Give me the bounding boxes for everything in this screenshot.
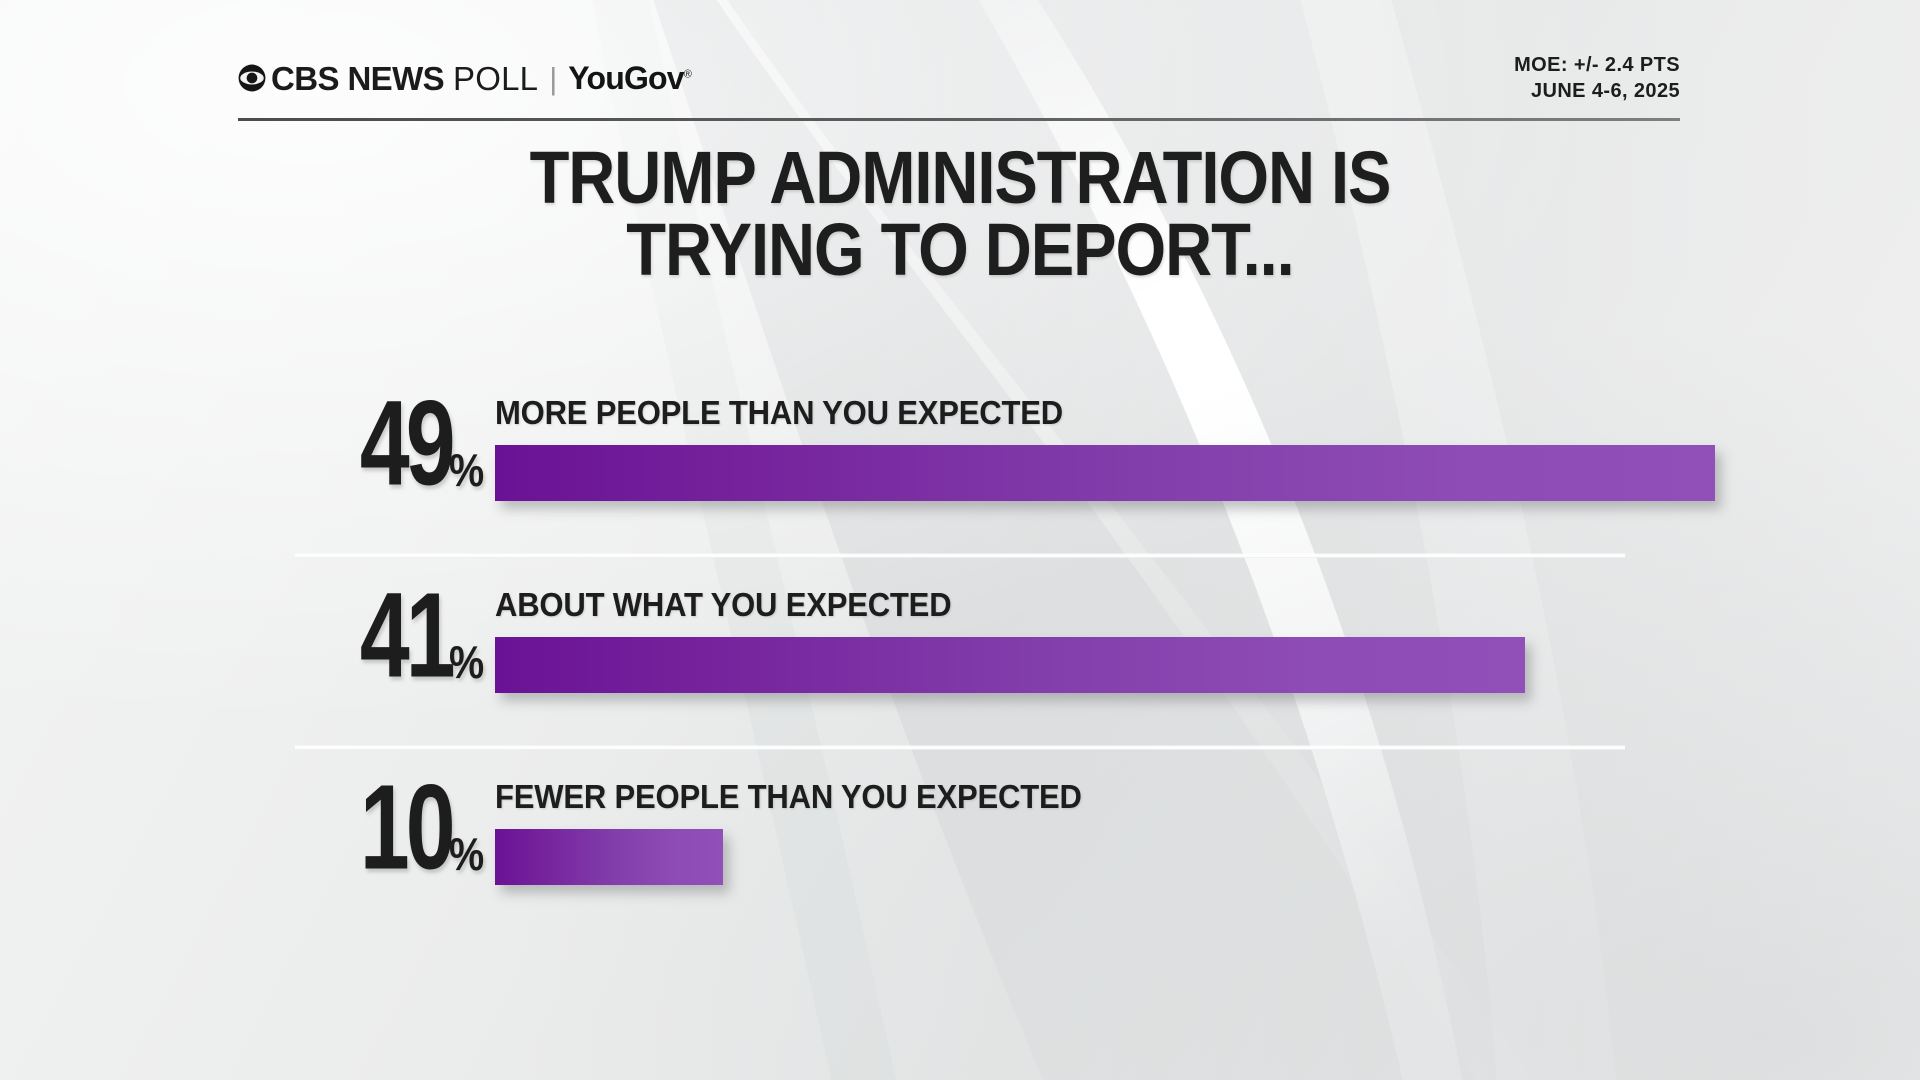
bar-fill <box>495 637 1525 693</box>
bar-track <box>495 637 1525 693</box>
bar-value: 10% <box>290 776 490 906</box>
percent-sign-icon: % <box>449 447 484 493</box>
bar-category-label: ABOUT WHAT YOU EXPECTED <box>495 586 951 624</box>
bar-track <box>495 829 723 885</box>
bar-category-label: FEWER PEOPLE THAN YOU EXPECTED <box>495 778 1082 816</box>
row-separator <box>295 553 1625 558</box>
bar-chart: 49% MORE PEOPLE THAN YOU EXPECTED 41% AB… <box>0 0 1920 1080</box>
bar-track <box>495 445 1715 501</box>
percent-sign-icon: % <box>449 639 484 685</box>
bar-fill <box>495 829 723 885</box>
infographic-root: CBS NEWS POLL | YouGov® MOE: +/- 2.4 PTS… <box>0 0 1920 1080</box>
percent-sign-icon: % <box>449 831 484 877</box>
row-separator <box>295 745 1625 750</box>
bar-value-number: 49 <box>359 383 451 504</box>
bar-value-number: 10 <box>359 767 451 888</box>
bar-category-label: MORE PEOPLE THAN YOU EXPECTED <box>495 394 1063 432</box>
bar-value: 49% <box>290 392 490 522</box>
bar-value: 41% <box>290 584 490 714</box>
bar-fill <box>495 445 1715 501</box>
bar-value-number: 41 <box>359 575 451 696</box>
